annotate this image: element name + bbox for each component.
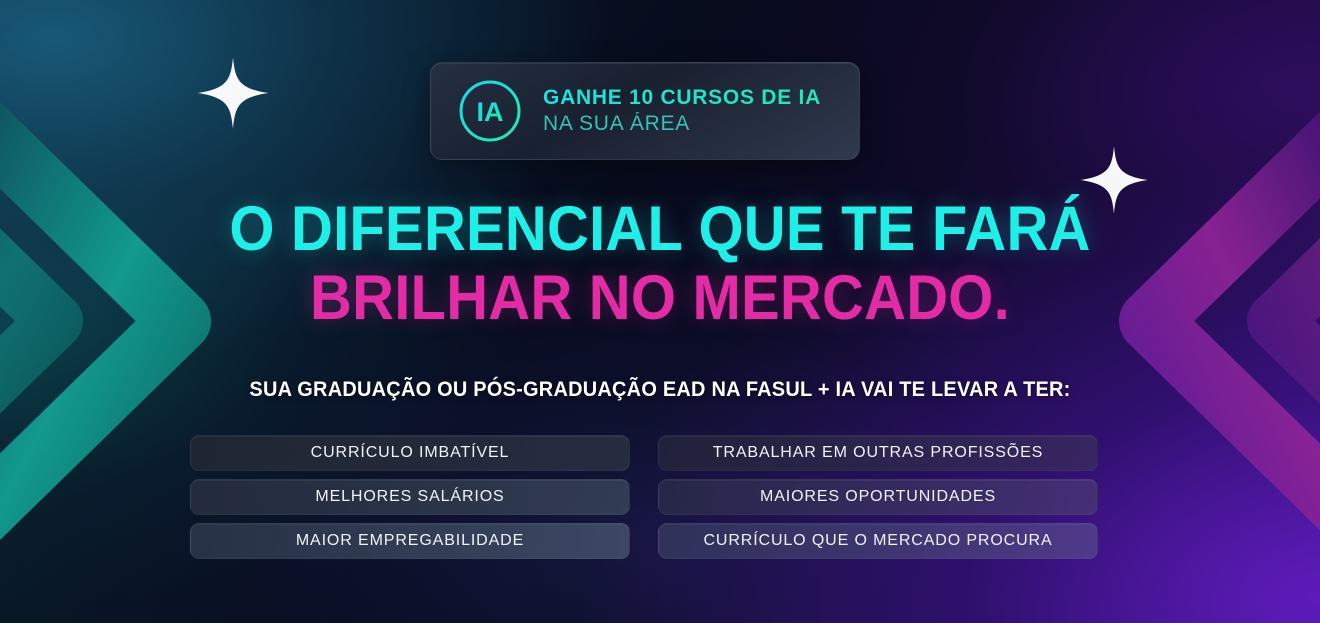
benefit-pill[interactable]: MELHORES SALÁRIOS	[190, 479, 630, 515]
benefit-pill[interactable]: MAIOR EMPREGABILIDADE	[190, 523, 630, 559]
headline-line-2: BRILHAR NO MERCADO.	[53, 265, 1267, 332]
ai-courses-badge[interactable]: IA GANHE 10 CURSOS DE IA NA SUA ÁREA	[430, 62, 860, 160]
benefit-pill[interactable]: TRABALHAR EM OUTRAS PROFISSÕES	[658, 435, 1098, 471]
promo-banner: IA GANHE 10 CURSOS DE IA NA SUA ÁREA O D…	[0, 0, 1320, 623]
benefits-grid: CURRÍCULO IMBATÍVEL TRABALHAR EM OUTRAS …	[190, 435, 1100, 559]
sparkle-icon	[196, 56, 270, 130]
badge-line-2: NA SUA ÁREA	[543, 112, 821, 136]
subtitle: SUA GRADUAÇÃO OU PÓS-GRADUAÇÃO EAD NA FA…	[33, 378, 1287, 402]
badge-text-block: GANHE 10 CURSOS DE IA NA SUA ÁREA	[543, 86, 821, 135]
benefit-pill[interactable]: CURRÍCULO IMBATÍVEL	[190, 435, 630, 471]
ia-logo-text: IA	[477, 97, 504, 127]
badge-line-1: GANHE 10 CURSOS DE IA	[543, 86, 821, 110]
benefit-pill[interactable]: CURRÍCULO QUE O MERCADO PROCURA	[658, 523, 1098, 559]
ia-logo-icon: IA	[457, 78, 523, 144]
headline-line-1: O DIFERENCIAL QUE TE FARÁ	[53, 196, 1267, 263]
headline-block: O DIFERENCIAL QUE TE FARÁ BRILHAR NO MER…	[0, 196, 1320, 332]
benefit-pill[interactable]: MAIORES OPORTUNIDADES	[658, 479, 1098, 515]
